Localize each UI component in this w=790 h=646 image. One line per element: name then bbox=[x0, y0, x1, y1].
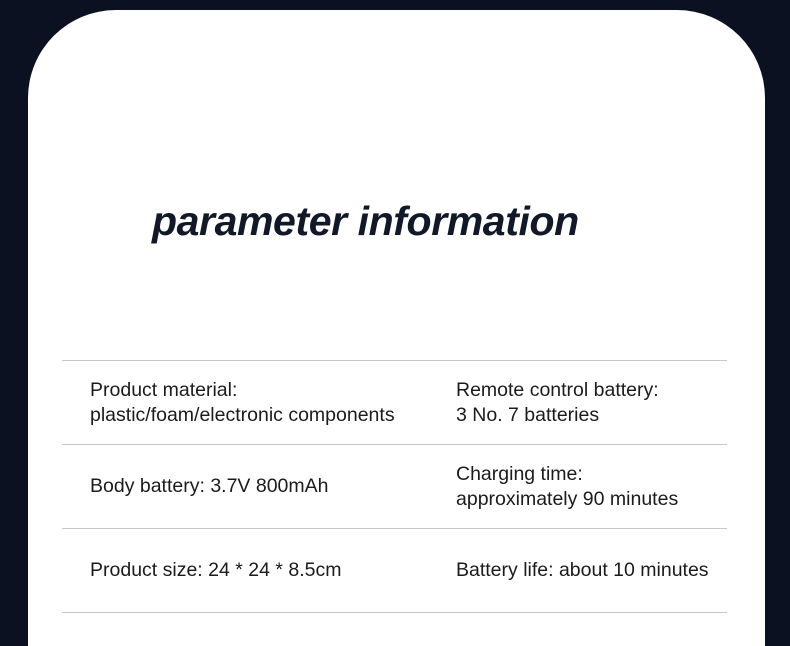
spec-cell-body-battery: Body battery: 3.7V 800mAh bbox=[90, 445, 450, 528]
table-row: Product size: 24 * 24 * 8.5cm Battery li… bbox=[62, 529, 727, 612]
table-row: Product material: plastic/foam/electroni… bbox=[62, 361, 727, 444]
spec-label: Body battery: 3.7V 800mAh bbox=[90, 474, 450, 499]
page-root: parameter information Product material: … bbox=[0, 0, 790, 646]
table-row: Body battery: 3.7V 800mAh Charging time:… bbox=[62, 445, 727, 528]
spec-label: Battery life: about 10 minutes bbox=[456, 558, 728, 583]
spec-label: Charging time: bbox=[456, 462, 728, 487]
spec-cell-charging-time: Charging time: approximately 90 minutes bbox=[456, 445, 728, 528]
specification-table: Product material: plastic/foam/electroni… bbox=[62, 360, 727, 613]
spec-cell-product-size: Product size: 24 * 24 * 8.5cm bbox=[90, 529, 450, 612]
spec-label: Product size: 24 * 24 * 8.5cm bbox=[90, 558, 450, 583]
spec-label: Remote control battery: bbox=[456, 378, 728, 403]
spec-value: 3 No. 7 batteries bbox=[456, 403, 728, 428]
spec-label: Product material: bbox=[90, 378, 450, 403]
product-info-card: parameter information Product material: … bbox=[28, 10, 765, 646]
spec-value: plastic/foam/electronic components bbox=[90, 403, 450, 428]
spec-cell-product-material: Product material: plastic/foam/electroni… bbox=[90, 361, 450, 444]
page-title: parameter information bbox=[152, 196, 579, 246]
table-divider-bottom bbox=[62, 612, 727, 613]
spec-cell-battery-life: Battery life: about 10 minutes bbox=[456, 529, 728, 612]
spec-cell-remote-control-battery: Remote control battery: 3 No. 7 batterie… bbox=[456, 361, 728, 444]
spec-value: approximately 90 minutes bbox=[456, 487, 728, 512]
